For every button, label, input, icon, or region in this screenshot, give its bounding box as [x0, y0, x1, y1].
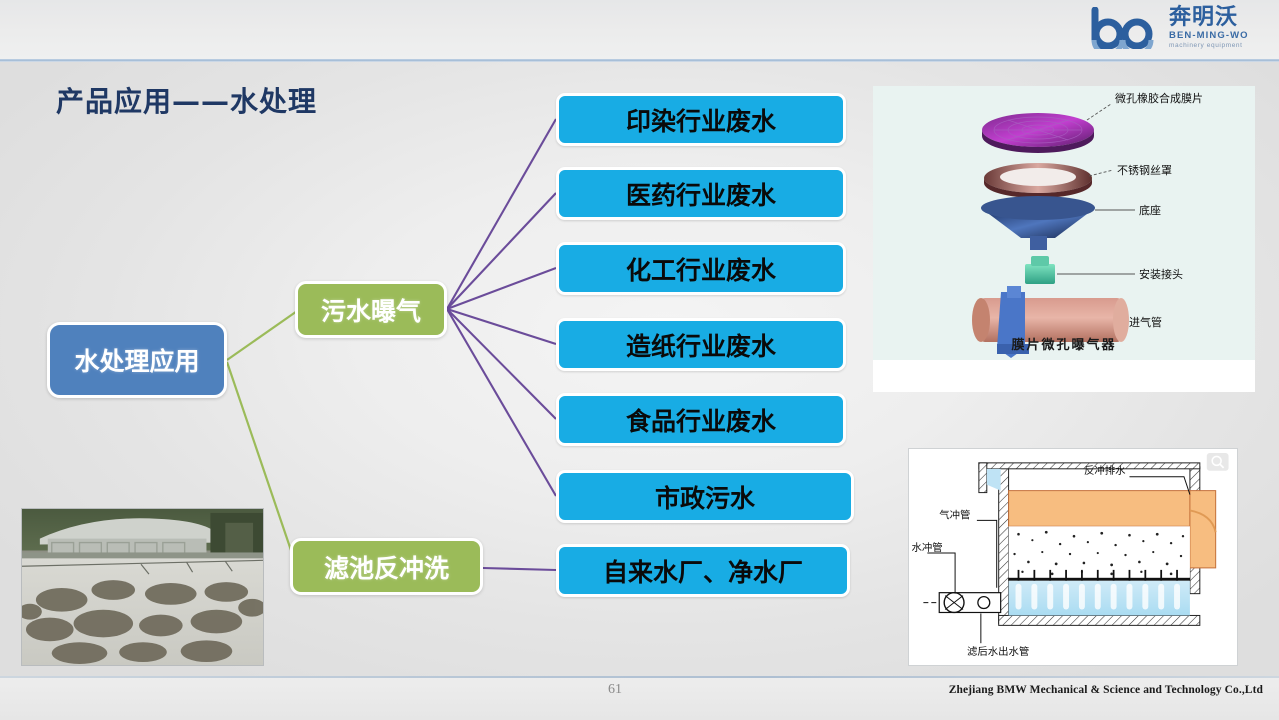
logo-text-block: 奔明沃 BEN-MING-WO machinery equipment — [1169, 7, 1249, 49]
logo-name-cn: 奔明沃 — [1169, 7, 1249, 29]
connector-root-aeration — [227, 309, 300, 360]
diffuser-label-2: 不锈钢丝罩 — [1117, 164, 1172, 177]
mindmap-root-water-treatment[interactable]: 水处理应用 — [47, 322, 227, 398]
mindmap-root-label: 水处理应用 — [74, 342, 199, 378]
footer-company-name: Zhejiang BMW Mechanical & Science and Te… — [949, 684, 1263, 696]
mindmap-leaf-waterworks[interactable]: 自来水厂、净水厂 — [556, 544, 850, 597]
mindmap-branch-aeration[interactable]: 污水曝气 — [295, 281, 447, 338]
mindmap-branch-label-backwash: 滤池反冲洗 — [324, 549, 449, 585]
mindmap-leaf-label-2: 医药行业废水 — [626, 176, 776, 212]
mindmap-leaf-printing-dyeing[interactable]: 印染行业废水 — [556, 93, 846, 146]
membrane-diffuser-diagram: 微孔橡胶合成膜片 不锈钢丝罩 底座 安装接头 进气管 — [873, 86, 1255, 360]
diffuser-label-3: 底座 — [1139, 203, 1161, 217]
header-divider — [0, 59, 1279, 62]
mindmap-leaf-label-6: 市政污水 — [655, 479, 755, 515]
connector-aeration-leaf-1 — [447, 119, 556, 309]
filter-label-air-pipe: 气冲管 — [939, 508, 970, 521]
mindmap-leaf-label-3: 化工行业废水 — [626, 251, 776, 287]
page-title: 产品应用——水处理 — [56, 80, 317, 120]
mindmap-leaf-paper[interactable]: 造纸行业废水 — [556, 318, 846, 371]
diffuser-figure-footer-panel — [873, 360, 1255, 392]
page-number: 61 — [595, 682, 635, 698]
mindmap-leaf-chemical[interactable]: 化工行业废水 — [556, 242, 846, 295]
mindmap-branch-label-aeration: 污水曝气 — [321, 292, 421, 328]
mindmap-branch-backwash[interactable]: 滤池反冲洗 — [290, 538, 483, 595]
mindmap-leaf-label-4: 造纸行业废水 — [626, 327, 776, 363]
connector-aeration-leaf-5 — [447, 309, 556, 419]
mindmap-leaf-label-7: 自来水厂、净水厂 — [603, 553, 803, 589]
aeration-basin-photo — [21, 508, 264, 666]
footer-divider — [0, 676, 1279, 678]
diffuser-label-1: 微孔橡胶合成膜片 — [1115, 91, 1203, 105]
mindmap-leaf-label-1: 印染行业废水 — [626, 102, 776, 138]
bo-monogram-icon — [1089, 7, 1163, 49]
company-logo: 奔明沃 BEN-MING-WO machinery equipment — [1089, 2, 1267, 54]
filter-backwash-diagram: 反冲排水 气冲管 水冲管 滤后水出水管 — [908, 448, 1238, 666]
filter-label-backwash-drain: 反冲排水 — [1084, 464, 1126, 477]
slide-canvas: 奔明沃 BEN-MING-WO machinery equipment 产品应用… — [0, 0, 1279, 720]
diffuser-figure-caption: 膜片微孔曝气器 — [873, 334, 1255, 353]
logo-tagline: machinery equipment — [1169, 43, 1249, 50]
diffuser-label-5: 进气管 — [1129, 315, 1162, 329]
connector-aeration-leaf-3 — [447, 268, 556, 309]
mindmap-leaf-label-5: 食品行业废水 — [626, 402, 776, 438]
mindmap-leaf-food[interactable]: 食品行业废水 — [556, 393, 846, 446]
header-band — [0, 0, 1279, 60]
mindmap-leaf-pharmaceutical[interactable]: 医药行业废水 — [556, 167, 846, 220]
filter-label-water-pipe: 水冲管 — [911, 541, 942, 554]
diffuser-label-4: 安装接头 — [1139, 267, 1183, 281]
connector-backwash-leaf-7 — [483, 568, 556, 570]
connector-aeration-leaf-6 — [447, 309, 556, 496]
connector-aeration-leaf-2 — [447, 193, 556, 309]
search-watermark-icon — [1207, 453, 1229, 471]
filter-label-effluent-pipe: 滤后水出水管 — [967, 645, 1029, 658]
mindmap-leaf-municipal[interactable]: 市政污水 — [556, 470, 854, 523]
connector-aeration-leaf-4 — [447, 309, 556, 344]
logo-name-en: BEN-MING-WO — [1169, 31, 1249, 41]
